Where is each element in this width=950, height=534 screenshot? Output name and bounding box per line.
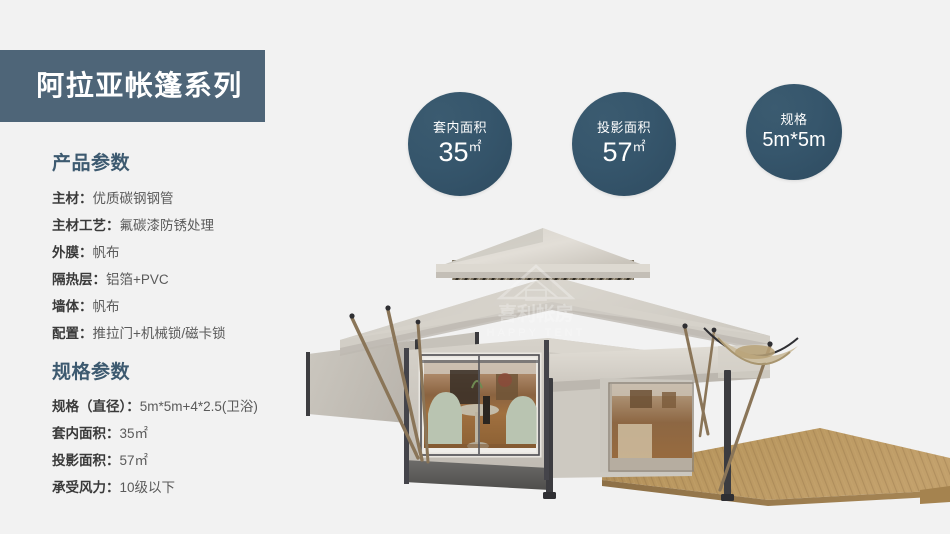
stat-badge-number: 57 (602, 137, 632, 167)
spec-value: 57㎡ (120, 453, 149, 468)
spec-row: 主材：优质碳钢钢管 (52, 185, 352, 212)
stat-badge-value: 35㎡ (438, 137, 481, 168)
stat-badge-label: 规格 (780, 112, 807, 128)
product-parameters-heading: 产品参数 (52, 150, 352, 179)
spec-value: 氟碳漆防锈处理 (120, 218, 215, 233)
spec-value: 35㎡ (120, 426, 149, 441)
spec-value: 5m*5m+4*2.5(卫浴) (140, 399, 258, 414)
spec-value: 10级以下 (120, 480, 176, 495)
spec-label: 外膜： (52, 245, 93, 260)
stat-badge-number: 5m*5m (762, 129, 825, 151)
stat-badge-value: 5m*5m (762, 129, 825, 152)
stat-badge-interior-area: 套内面积 35㎡ (408, 92, 512, 196)
stat-badge-projected-area: 投影面积 57㎡ (572, 92, 676, 196)
watermark-text: 喜利帐房 (498, 302, 574, 325)
spec-label: 隔热层： (52, 272, 106, 287)
spec-value: 帆布 (93, 245, 120, 260)
spec-label: 投影面积： (52, 453, 120, 468)
stat-badge-unit: ㎡ (469, 139, 482, 154)
spec-value: 推拉门+机械锁/磁卡锁 (93, 326, 226, 341)
spec-label: 配置： (52, 326, 93, 341)
spec-label: 套内面积： (52, 426, 120, 441)
porch-doorway (600, 378, 693, 476)
spec-value: 帆布 (93, 299, 120, 314)
spec-value: 优质碳钢钢管 (93, 191, 174, 206)
spec-label: 主材工艺： (52, 218, 120, 233)
watermark-subtext: HAPPY TENT (487, 327, 586, 339)
series-title-text: 阿拉亚帐篷系列 (36, 72, 243, 100)
stat-badge-number: 35 (438, 137, 468, 167)
stat-badge-label: 套内面积 (433, 120, 487, 136)
stat-badge-dimensions: 规格 5m*5m (746, 84, 842, 180)
spec-label: 墙体： (52, 299, 93, 314)
tent-illustration: 喜利帐房 HAPPY TENT (300, 228, 950, 534)
spec-value: 铝箔+PVC (106, 272, 169, 287)
spec-label: 规格（直径）： (52, 399, 140, 414)
spec-label: 主材： (52, 191, 93, 206)
stat-badge-value: 57㎡ (602, 137, 645, 168)
slide-root: 阿拉亚帐篷系列 产品参数 主材：优质碳钢钢管 主材工艺：氟碳漆防锈处理 外膜：帆… (0, 0, 950, 534)
stat-badge-group: 套内面积 35㎡ 投影面积 57㎡ 规格 5m*5m (408, 78, 878, 218)
stat-badge-unit: ㎡ (633, 139, 646, 154)
spec-label: 承受风力： (52, 480, 120, 495)
series-title-banner: 阿拉亚帐篷系列 (0, 50, 265, 122)
stat-badge-label: 投影面积 (597, 120, 651, 136)
